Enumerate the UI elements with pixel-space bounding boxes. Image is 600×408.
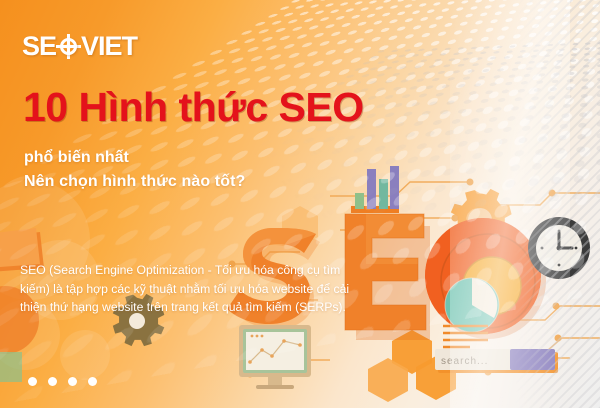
pie-chart xyxy=(445,278,499,332)
pagination-dot[interactable] xyxy=(68,377,77,386)
pagination-dot[interactable] xyxy=(28,377,37,386)
decor-diagonal-stripes xyxy=(514,0,600,408)
body-paragraph: SEO (Search Engine Optimization - Tối ưu… xyxy=(20,261,350,317)
decor-sheen xyxy=(450,0,570,408)
pagination-dot[interactable] xyxy=(48,377,57,386)
page-title: 10 Hình thức SEO xyxy=(23,86,364,129)
subtitle-line-1: phổ biến nhất xyxy=(24,146,245,170)
logo-text-viet: VIET xyxy=(81,33,137,60)
pagination-dot[interactable] xyxy=(88,377,97,386)
target-crosshair-icon xyxy=(56,34,81,59)
letter-e xyxy=(345,214,430,340)
bar-chart xyxy=(351,166,399,213)
pagination-dots[interactable] xyxy=(28,377,97,386)
logo-text-se: SE xyxy=(22,33,56,60)
search-bar: search... xyxy=(435,349,558,373)
gear-large xyxy=(451,189,512,252)
pie-legend-lines xyxy=(443,326,488,347)
decor-dot-grid-secondary xyxy=(144,40,600,231)
letter-o xyxy=(425,218,546,339)
monitor-line-chart xyxy=(239,325,311,389)
seo-banner: search... SE VIET 10 Hình thức SEO phổ b xyxy=(0,0,600,408)
subtitle-block: phổ biến nhất Nên chọn hình thức nào tốt… xyxy=(24,146,245,194)
clock xyxy=(528,217,590,279)
subtitle-line-2: Nên chọn hình thức nào tốt? xyxy=(24,170,245,194)
decor-bokeh-4 xyxy=(60,330,110,380)
search-placeholder-text: search... xyxy=(441,356,488,367)
brand-logo[interactable]: SE VIET xyxy=(22,33,137,60)
